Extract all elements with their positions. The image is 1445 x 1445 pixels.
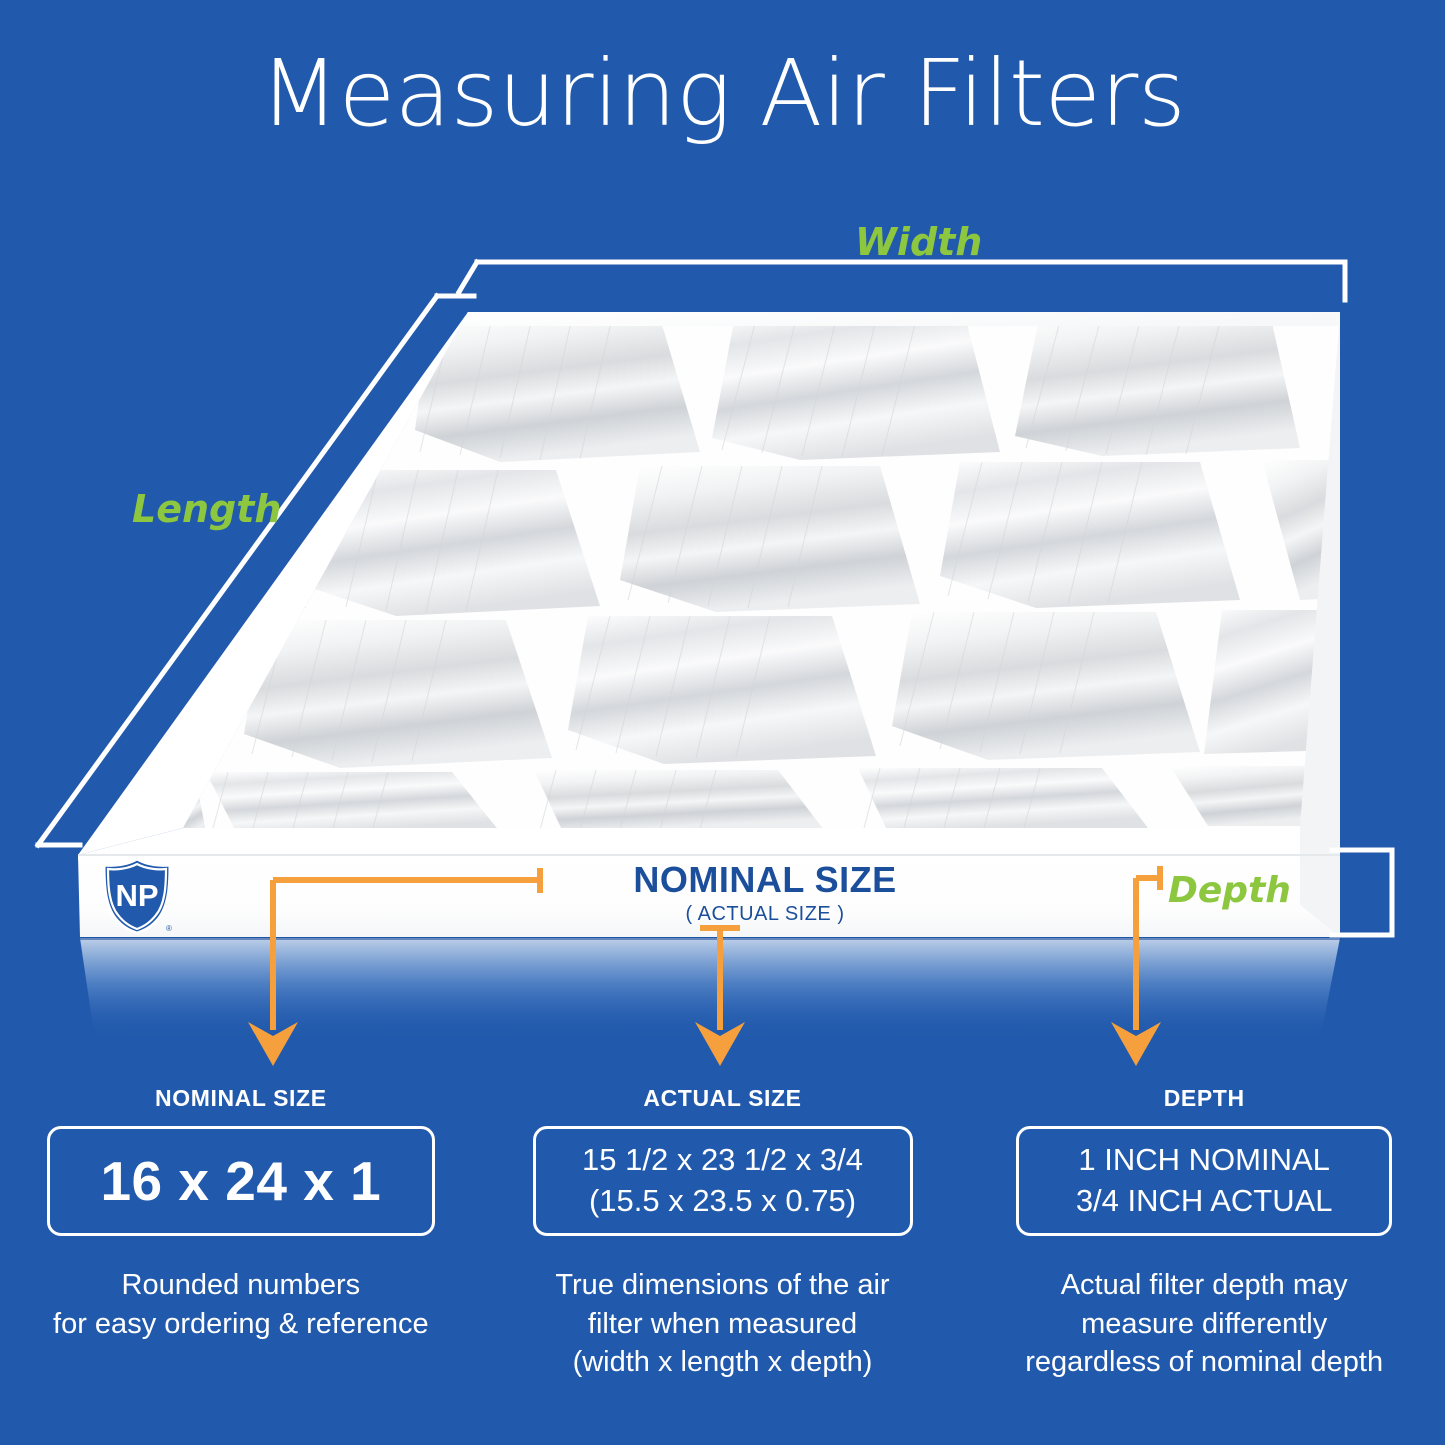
column-depth: DEPTH 1 INCH NOMINAL 3/4 INCH ACTUAL Act… — [963, 1085, 1445, 1382]
nominal-leader — [273, 868, 540, 1030]
column-caption: Rounded numbersfor easy ordering & refer… — [6, 1266, 476, 1343]
depth-box: 1 INCH NOMINAL 3/4 INCH ACTUAL — [1016, 1126, 1392, 1236]
column-heading: NOMINAL SIZE — [155, 1085, 327, 1112]
actual-leader — [700, 928, 740, 1030]
column-caption: True dimensions of the airfilter when me… — [513, 1266, 933, 1382]
column-heading: DEPTH — [1164, 1085, 1245, 1112]
actual-size-decimal: (15.5 x 23.5 x 0.75) — [536, 1181, 910, 1222]
size-explanation-columns: NOMINAL SIZE 16 x 24 x 1 Rounded numbers… — [0, 1085, 1445, 1382]
column-actual-size: ACTUAL SIZE 15 1/2 x 23 1/2 x 3/4 (15.5 … — [482, 1085, 964, 1382]
depth-actual-value: 3/4 INCH ACTUAL — [1019, 1181, 1389, 1222]
depth-nominal-value: 1 INCH NOMINAL — [1019, 1140, 1389, 1181]
depth-leader — [1136, 866, 1160, 1030]
actual-size-fraction: 15 1/2 x 23 1/2 x 3/4 — [536, 1140, 910, 1181]
column-nominal-size: NOMINAL SIZE 16 x 24 x 1 Rounded numbers… — [0, 1085, 482, 1382]
nominal-size-value: 16 x 24 x 1 — [50, 1149, 432, 1213]
infographic-canvas: Measuring Air Filters — [0, 0, 1445, 1445]
column-heading: ACTUAL SIZE — [643, 1085, 801, 1112]
column-caption: Actual filter depth maymeasure different… — [989, 1266, 1419, 1382]
actual-size-box: 15 1/2 x 23 1/2 x 3/4 (15.5 x 23.5 x 0.7… — [533, 1126, 913, 1236]
nominal-size-box: 16 x 24 x 1 — [47, 1126, 435, 1236]
